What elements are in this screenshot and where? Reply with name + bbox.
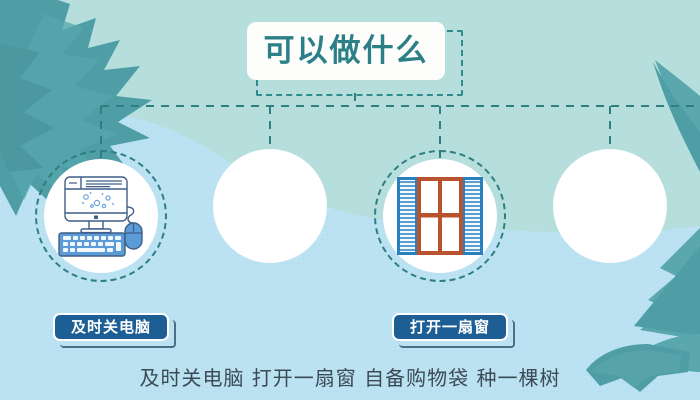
title-box: 可以做什么 [247,22,445,80]
title-text: 可以做什么 [264,36,429,67]
empty-circle-icon [213,149,327,263]
desktop-computer-icon [44,159,158,273]
label-text: 打开一扇窗 [410,320,490,335]
label-text: 及时关电脑 [71,320,151,335]
open-window-icon [383,159,497,273]
node-computer[interactable] [44,159,158,273]
page-title: 可以做什么 [247,22,463,96]
empty-circle-icon [553,149,667,263]
poster-canvas: 可以做什么 [0,0,700,400]
label-box: 及时关电脑 [53,313,169,341]
node-blank-4[interactable] [553,149,667,263]
label-box: 打开一扇窗 [392,313,508,341]
node-blank-2[interactable] [213,149,327,263]
node-window[interactable] [383,159,497,273]
caption-text: 及时关电脑 打开一扇窗 自备购物袋 种一棵树 [0,362,700,391]
